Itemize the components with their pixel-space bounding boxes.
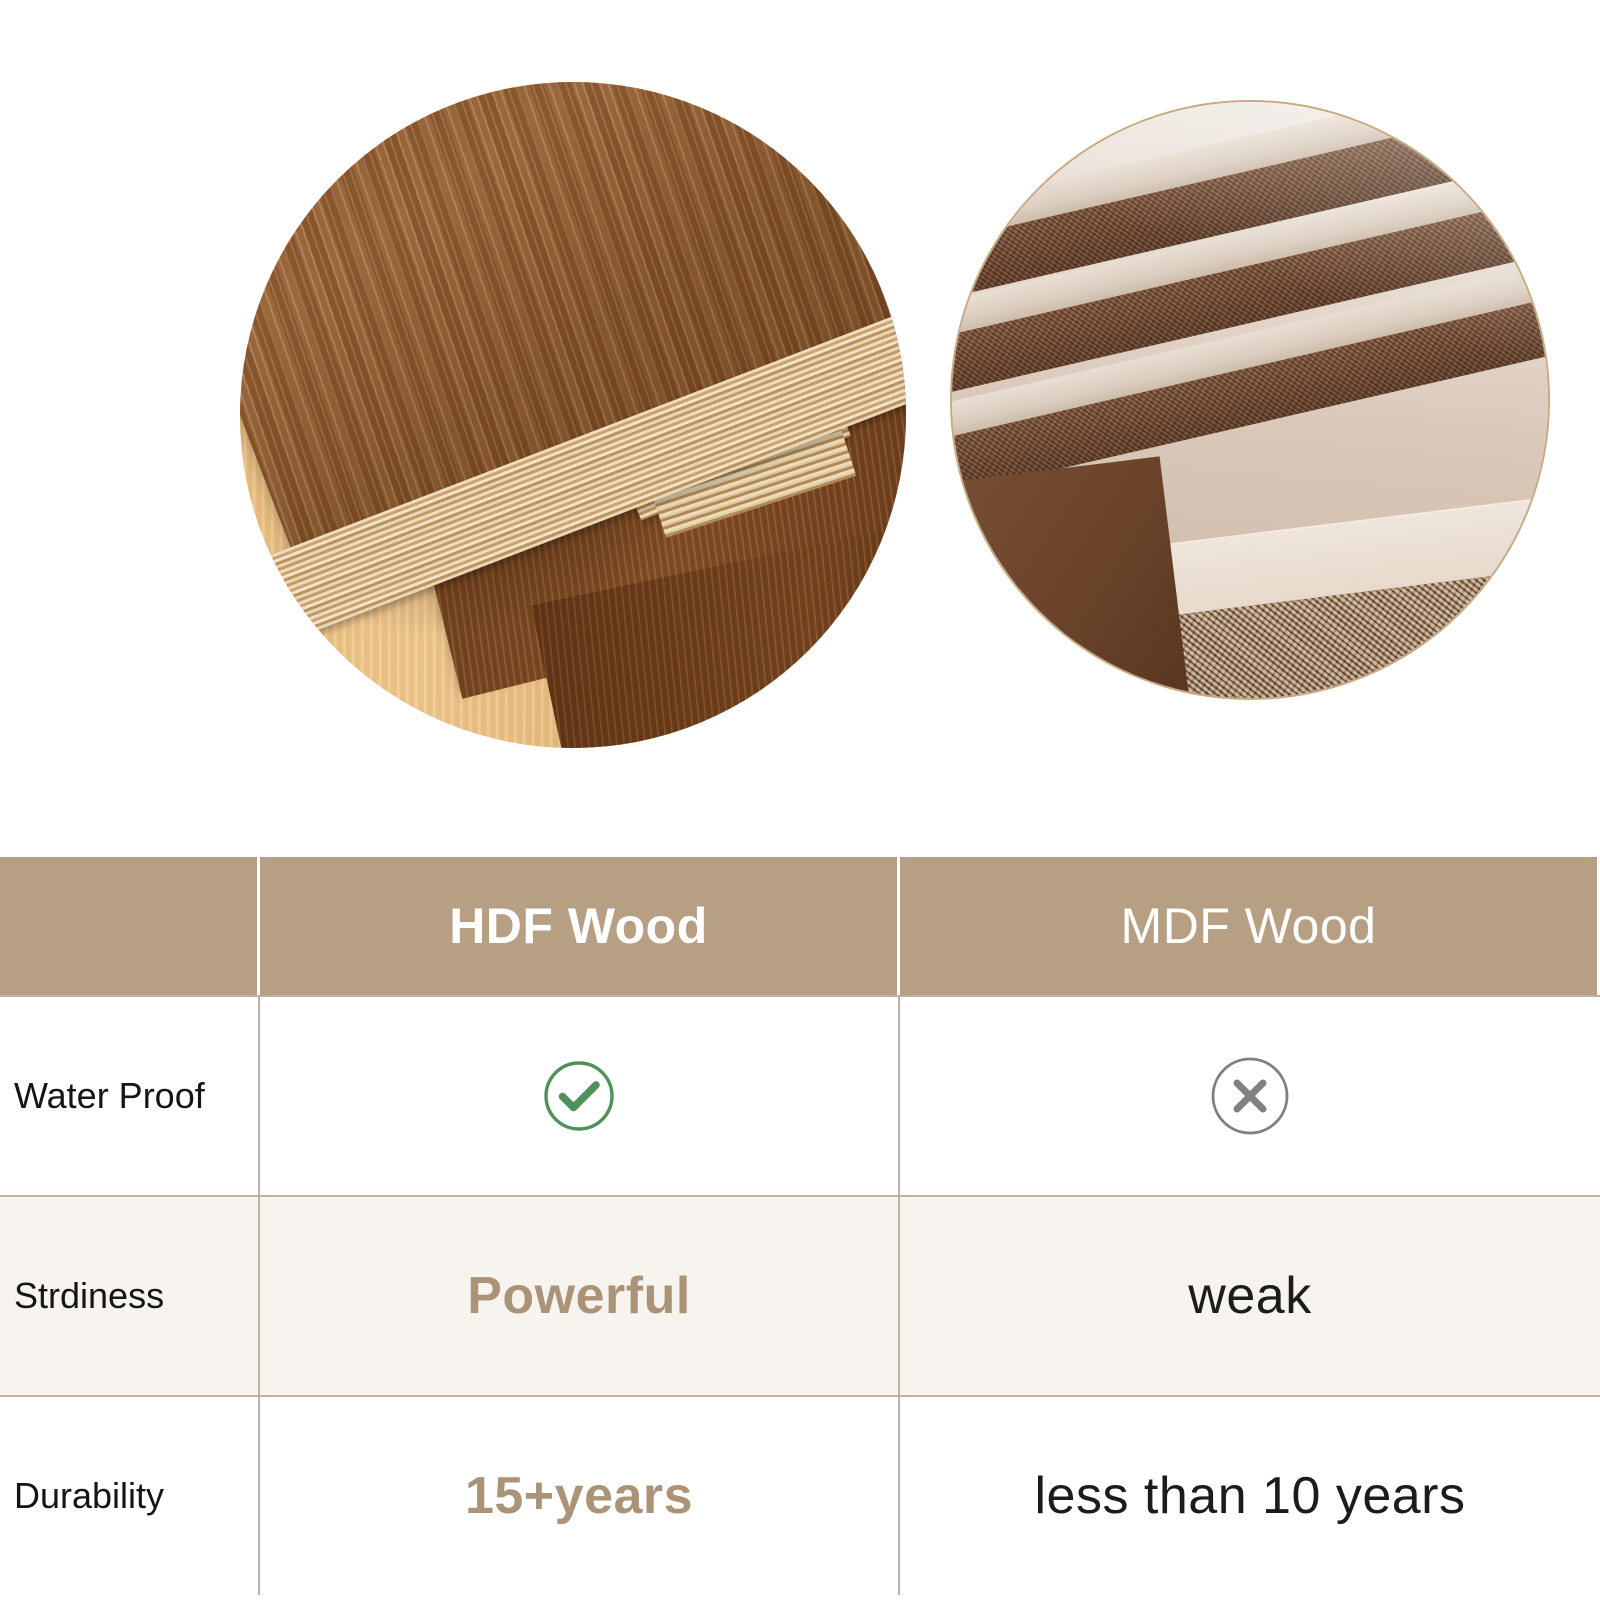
table-row: Durability 15+years less than 10 years	[0, 1395, 1600, 1595]
row-label-cell: Strdiness	[0, 1195, 260, 1395]
check-circle-icon	[541, 1058, 617, 1134]
header-mdf-label: MDF Wood	[1121, 897, 1377, 955]
cell-mdf-sturdiness: weak	[900, 1195, 1600, 1395]
cell-mdf-durability: less than 10 years	[900, 1395, 1600, 1595]
feature-label: Water Proof	[14, 1076, 205, 1116]
mdf-boards-photo	[950, 100, 1550, 700]
table-body: Water Proof Strdin	[0, 995, 1600, 1595]
header-cell-mdf: MDF Wood	[900, 857, 1600, 995]
mdf-durability-value: less than 10 years	[1034, 1466, 1465, 1526]
cell-mdf-water-proof	[900, 995, 1600, 1195]
feature-label: Strdiness	[14, 1276, 164, 1316]
row-label-cell: Water Proof	[0, 995, 260, 1195]
row-label-cell: Durability	[0, 1395, 260, 1595]
hdf-sturdiness-value: Powerful	[467, 1266, 691, 1326]
table-row: Strdiness Powerful weak	[0, 1195, 1600, 1395]
cell-hdf-durability: 15+years	[260, 1395, 900, 1595]
table-header-row: HDF Wood MDF Wood	[0, 857, 1600, 995]
header-cell-feature	[0, 857, 260, 995]
cell-hdf-water-proof	[260, 995, 900, 1195]
x-circle-icon	[1208, 1054, 1292, 1138]
mdf-light-sheen	[952, 102, 1548, 698]
mdf-sturdiness-value: weak	[1188, 1266, 1311, 1326]
header-hdf-label: HDF Wood	[449, 897, 708, 955]
hero-image-row	[0, 0, 1600, 840]
cell-hdf-sturdiness: Powerful	[260, 1195, 900, 1395]
hdf-durability-value: 15+years	[465, 1466, 693, 1526]
header-cell-hdf: HDF Wood	[260, 857, 900, 995]
table-row: Water Proof	[0, 995, 1600, 1195]
comparison-infographic: HDF Wood MDF Wood Water Proof	[0, 0, 1600, 1600]
feature-label: Durability	[14, 1476, 164, 1516]
hdf-plywood-boards-photo	[240, 82, 906, 748]
comparison-table: HDF Wood MDF Wood Water Proof	[0, 857, 1600, 1595]
